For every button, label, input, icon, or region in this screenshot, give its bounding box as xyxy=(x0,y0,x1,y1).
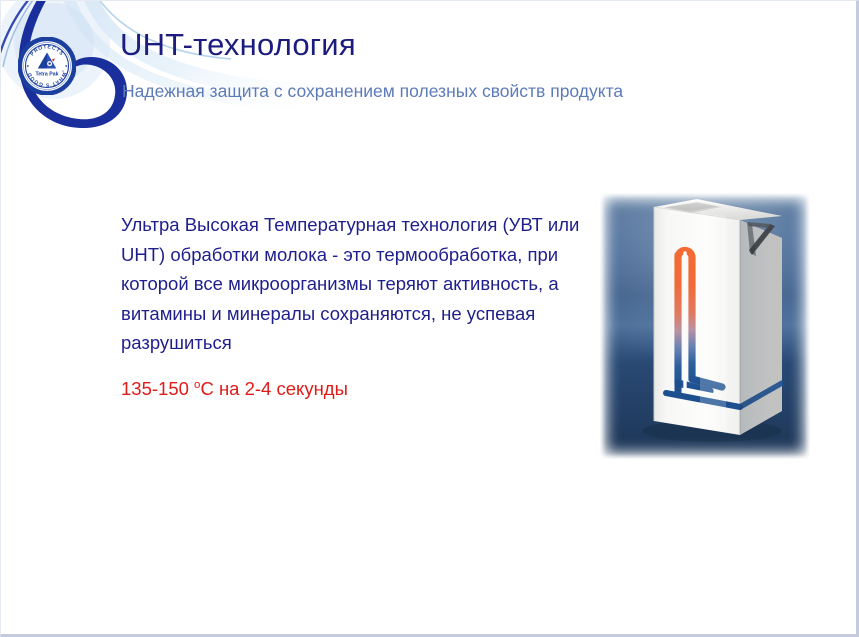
content-block: Ультра Высокая Температурная технология … xyxy=(121,210,613,402)
presentation-slide: PROTECTS WHAT'S GOOD Tetra Pak ® UHT-тех… xyxy=(0,0,859,637)
product-photo xyxy=(600,193,810,459)
temperature-unit: С xyxy=(200,378,213,399)
page-title: UHT-технология xyxy=(120,27,356,63)
seal-wordmark: Tetra Pak xyxy=(36,72,59,78)
body-paragraph: Ультра Высокая Температурная технология … xyxy=(121,210,613,358)
tetra-pak-carton-illustration xyxy=(600,193,810,459)
seal-registered-icon: ® xyxy=(62,70,64,74)
temperature-range: 135-150 xyxy=(121,378,194,399)
page-subtitle: Надежная защита с сохранением полезных с… xyxy=(122,81,623,102)
duration-text: на 2-4 секунды xyxy=(214,378,348,399)
temperature-highlight: 135-150 oС на 2-4 секунды xyxy=(121,376,613,402)
tetra-pak-logo: PROTECTS WHAT'S GOOD Tetra Pak ® xyxy=(18,37,76,95)
